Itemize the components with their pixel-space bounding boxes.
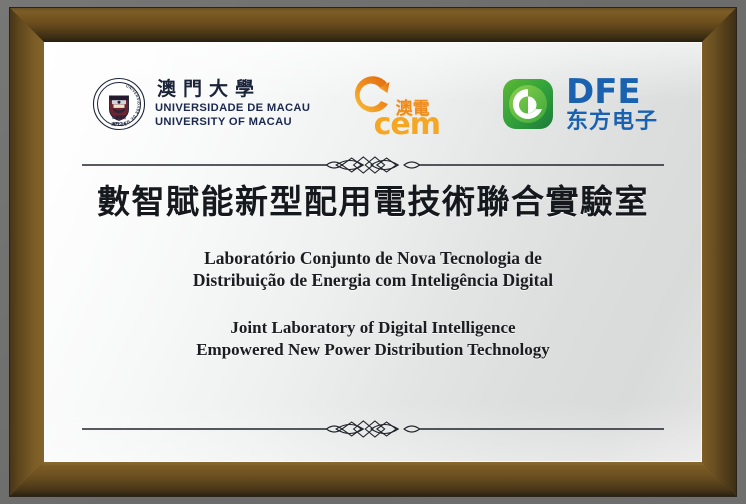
title-chinese: 數智賦能新型配用電技術聯合實驗室 [66, 184, 680, 221]
frame-edge-right [702, 8, 736, 496]
um-portuguese-name: UNIVERSIDADE DE MACAU [155, 103, 310, 114]
title-english-line1: Joint Laboratory of Digital Intelligence [66, 317, 680, 339]
logo-university-of-macau: UNIVERSIDADE DE MACAU 仁義禮智 澳門之大 澳門大學 [92, 77, 310, 131]
frame-edge-bottom [10, 462, 736, 496]
svg-text:澳門之大: 澳門之大 [111, 122, 126, 127]
title-portuguese-line1: Laboratório Conjunto de Nova Tecnologia … [66, 247, 680, 269]
um-english-name: UNIVERSITY OF MACAU [155, 117, 310, 128]
cem-wordmark: cem [374, 110, 440, 140]
divider-bottom [82, 418, 664, 440]
plaque-face: UNIVERSIDADE DE MACAU 仁義禮智 澳門之大 澳門大學 [44, 42, 702, 462]
title-english: Joint Laboratory of Digital Intelligence… [66, 317, 680, 361]
title-portuguese: Laboratório Conjunto de Nova Tecnologia … [66, 247, 680, 291]
frame-edge-top [10, 8, 736, 42]
university-of-macau-seal-icon: UNIVERSIDADE DE MACAU 仁義禮智 澳門之大 [92, 77, 146, 131]
dfe-english-name: DFE [566, 75, 658, 109]
svg-text:仁義禮智: 仁義禮智 [112, 115, 127, 120]
university-of-macau-wordmark: 澳門大學 UNIVERSIDADE DE MACAU UNIVERSITY OF… [155, 80, 310, 127]
divider-top [82, 154, 664, 176]
logo-dfe: DFE 东方电子 [501, 75, 658, 133]
logo-row: UNIVERSIDADE DE MACAU 仁義禮智 澳門之大 澳門大學 [44, 60, 702, 148]
frame-edge-left [10, 8, 44, 496]
dfe-wordmark: DFE 东方电子 [566, 75, 658, 133]
dfe-spiral-icon [501, 76, 557, 132]
um-chinese-name: 澳門大學 [155, 80, 310, 99]
wooden-picture-frame: UNIVERSIDADE DE MACAU 仁義禮智 澳門之大 澳門大學 [9, 7, 737, 497]
title-english-line2: Empowered New Power Distribution Technol… [66, 339, 680, 361]
logo-cem: 澳電 cem [346, 68, 466, 140]
dfe-chinese-name: 东方电子 [566, 111, 658, 133]
title-portuguese-line2: Distribuição de Energia com Inteligência… [66, 269, 680, 291]
plaque-titles: 數智賦能新型配用電技術聯合實驗室 Laboratório Conjunto de… [44, 184, 702, 361]
